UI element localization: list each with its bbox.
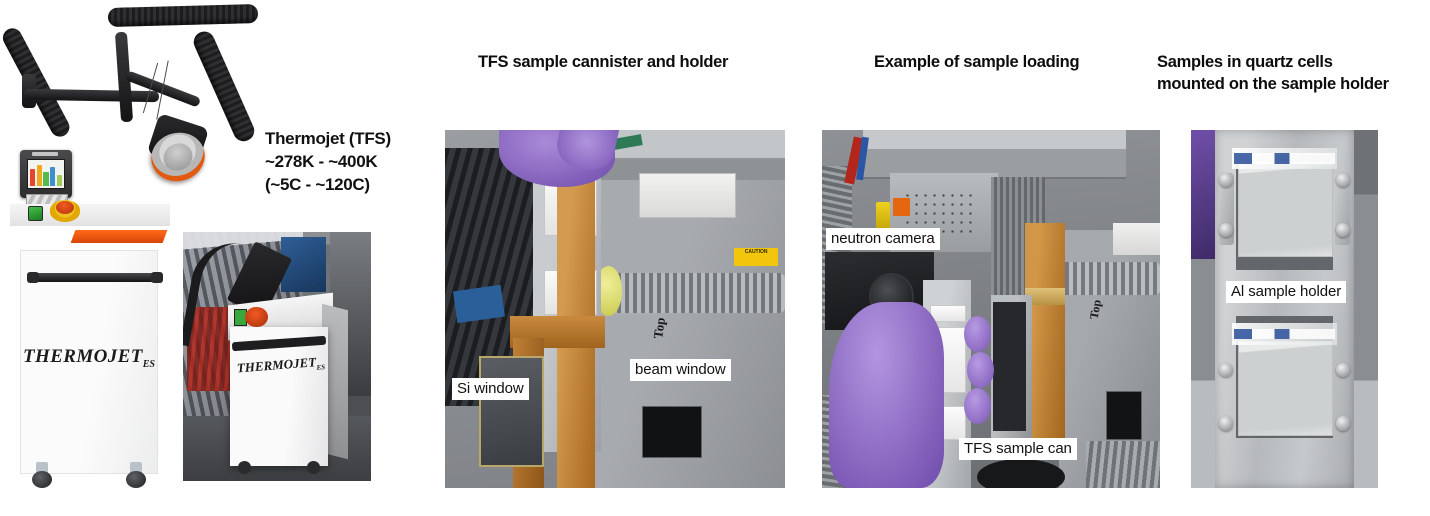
cabinet-body: THERMOJETES xyxy=(20,250,158,474)
quartz-cells-on-holder-photo xyxy=(1191,130,1378,488)
panel2-top-marking: Top xyxy=(1086,298,1104,320)
panel1-top-marking: Top xyxy=(650,316,669,339)
panel-heading-line-2: mounted on the sample holder xyxy=(1157,74,1389,96)
cabinet-logo: THERMOJETES xyxy=(21,346,157,370)
sample-loading-photo: Top xyxy=(822,130,1160,488)
tfs-sample-cannister-photo: CAUTION Top xyxy=(445,130,785,488)
thermojet-title: Thermojet (TFS) xyxy=(265,128,391,151)
panel-heading-sample-cannister: TFS sample cannister and holder xyxy=(478,52,728,74)
slide-canvas: THERMOJETES Thermojet (TFS) ~278K - ~400… xyxy=(0,0,1430,516)
cabinet-logo-name: THERMOJET xyxy=(23,346,143,367)
callout-beam-window: beam window xyxy=(630,359,731,381)
cabinet-caster-left xyxy=(32,462,52,488)
thermojet-in-lab-photo: THERMOJETES xyxy=(183,232,371,481)
panel-heading-quartz-cells: Samples in quartz cells mounted on the s… xyxy=(1157,52,1389,96)
panel-heading-line: Example of sample loading xyxy=(874,52,1079,74)
caution-sticker: CAUTION xyxy=(734,248,778,266)
cabinet-logo-suffix: ES xyxy=(143,359,155,370)
callout-tfs-sample-can: TFS sample can xyxy=(959,438,1077,460)
start-button[interactable] xyxy=(28,206,43,221)
cabinet-handle[interactable] xyxy=(29,273,161,282)
callout-si-window: Si window xyxy=(452,378,529,400)
emergency-stop-button[interactable] xyxy=(50,200,80,222)
panel-heading-line: TFS sample cannister and holder xyxy=(478,52,728,74)
thermojet-spec-label: Thermojet (TFS) ~278K - ~400K (~5C - ~12… xyxy=(265,128,391,197)
thermojet-base-top xyxy=(0,0,310,250)
thermojet-cabinet-product-photo: THERMOJETES xyxy=(14,230,164,488)
thermojet-range-kelvin: ~278K - ~400K xyxy=(265,151,391,174)
callout-neutron-camera: neutron camera xyxy=(826,228,940,250)
panel-heading-sample-loading: Example of sample loading xyxy=(874,52,1079,74)
cabinet-caster-right xyxy=(126,462,146,488)
thermojet-range-celsius: (~5C - ~120C) xyxy=(265,174,391,197)
panel-heading-line-1: Samples in quartz cells xyxy=(1157,52,1389,74)
lab-logo-suffix: ES xyxy=(316,363,325,372)
callout-al-sample-holder: Al sample holder xyxy=(1226,281,1346,303)
